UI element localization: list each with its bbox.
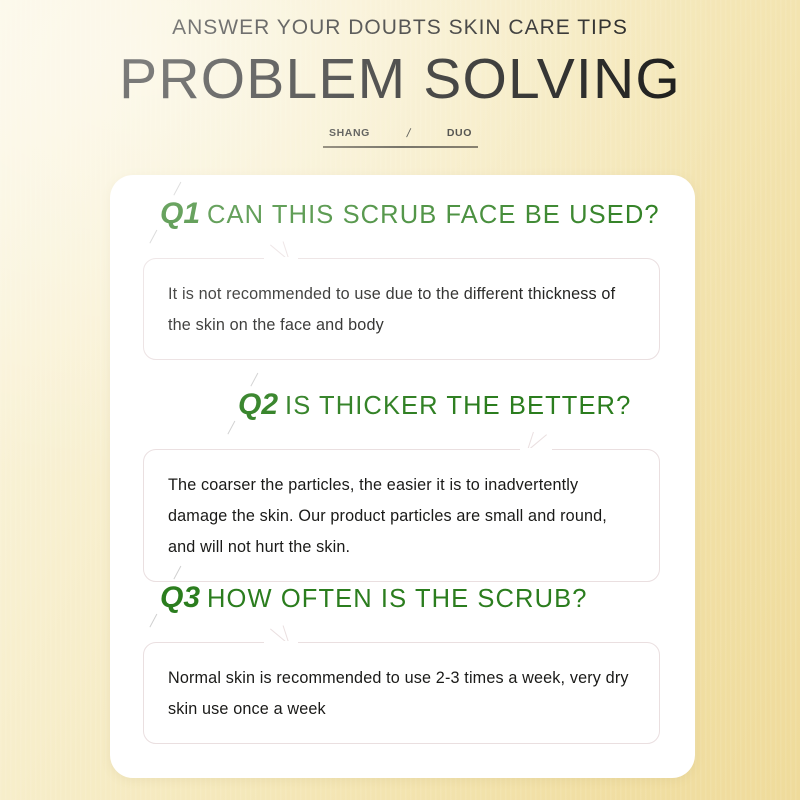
faq-question-text-q2: IS THICKER THE BETTER? — [285, 392, 631, 420]
faq-card: Q1CAN THIS SCRUB FACE BE USED? It is not… — [110, 175, 695, 778]
faq-answer-text-q1: It is not recommended to use due to the … — [168, 279, 635, 341]
faq-answer-text-q2: The coarser the particles, the easier it… — [168, 470, 635, 563]
faq-question-q2: Q2IS THICKER THE BETTER? — [110, 388, 695, 422]
page-root: ANSWER YOUR DOUBTS SKIN CARE TIPS PROBLE… — [0, 0, 800, 800]
header-eyebrow: ANSWER YOUR DOUBTS SKIN CARE TIPS — [0, 16, 800, 40]
divider-left-label: SHANG — [329, 127, 370, 139]
faq-answer-text-q3: Normal skin is recommended to use 2-3 ti… — [168, 663, 635, 725]
faq-answer-q1: It is not recommended to use due to the … — [143, 258, 660, 360]
faq-item-q2: Q2IS THICKER THE BETTER? The coarser the… — [110, 388, 695, 582]
speech-pointer-q1 — [256, 240, 296, 260]
faq-question-text-q3: HOW OFTEN IS THE SCRUB? — [207, 585, 587, 613]
divider-slash-icon: / — [405, 126, 411, 140]
speech-pointer-q3 — [256, 624, 296, 644]
faq-number-q3: Q3 — [160, 581, 200, 614]
faq-answer-q3: Normal skin is recommended to use 2-3 ti… — [143, 642, 660, 744]
accent-tick-icon — [149, 614, 157, 628]
faq-item-q3: Q3HOW OFTEN IS THE SCRUB? Normal skin is… — [110, 581, 695, 744]
faq-item-q1: Q1CAN THIS SCRUB FACE BE USED? It is not… — [110, 197, 695, 360]
page-title: PROBLEM SOLVING — [0, 48, 800, 110]
accent-tick-icon — [173, 182, 181, 196]
accent-tick-icon — [250, 373, 258, 387]
accent-tick-icon — [227, 421, 235, 435]
faq-question-text-q1: CAN THIS SCRUB FACE BE USED? — [207, 201, 660, 229]
divider-rule — [323, 146, 478, 148]
speech-pointer-q2 — [516, 431, 562, 451]
faq-question-q1: Q1CAN THIS SCRUB FACE BE USED? — [110, 197, 695, 231]
faq-number-q1: Q1 — [160, 197, 200, 230]
brand-divider: SHANG / DUO — [323, 124, 478, 154]
divider-right-label: DUO — [447, 127, 472, 139]
faq-question-q3: Q3HOW OFTEN IS THE SCRUB? — [110, 581, 695, 615]
faq-answer-q2: The coarser the particles, the easier it… — [143, 449, 660, 582]
accent-tick-icon — [149, 230, 157, 244]
faq-number-q2: Q2 — [238, 388, 278, 421]
